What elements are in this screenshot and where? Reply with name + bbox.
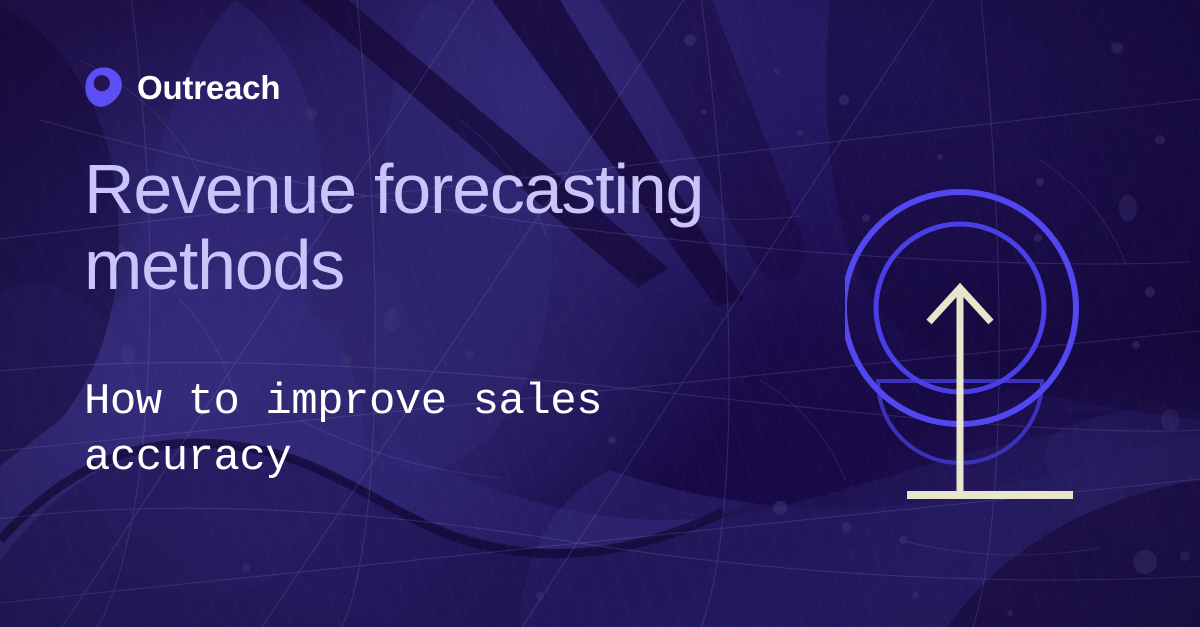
brand-wordmark: Outreach — [137, 71, 280, 104]
page-title: Revenue forecasting methods — [84, 152, 874, 303]
page-subtitle: How to improve sales accuracy — [84, 374, 724, 487]
upward-arrow-in-circles-illustration — [845, 150, 1145, 530]
social-share-banner: Outreach Revenue forecasting methods How… — [0, 0, 1200, 627]
outreach-pin-logo-icon — [84, 66, 124, 108]
banner-content: Outreach Revenue forecasting methods How… — [0, 0, 1200, 627]
brand-logo[interactable]: Outreach — [84, 66, 280, 108]
